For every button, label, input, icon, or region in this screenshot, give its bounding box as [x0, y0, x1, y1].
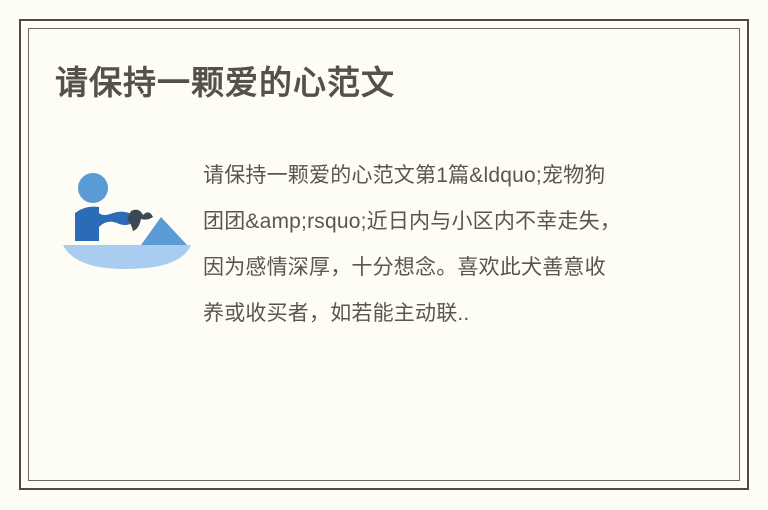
card-content: 请保持一颗爱的心范文 请保持一颗爱的心范文第1篇&ldquo;宠物狗团团&amp… [28, 28, 740, 481]
article-preview-row: 请保持一颗爱的心范文第1篇&ldquo;宠物狗团团&amp;rsquo;近日内与… [55, 153, 715, 337]
article-excerpt: 请保持一颗爱的心范文第1篇&ldquo;宠物狗团团&amp;rsquo;近日内与… [203, 153, 623, 337]
person-on-boat-icon [55, 161, 195, 281]
article-card-page: 请保持一颗爱的心范文 请保持一颗爱的心范文第1篇&ldquo;宠物狗团团&amp… [0, 0, 768, 510]
page-title: 请保持一颗爱的心范文 [55, 64, 395, 102]
